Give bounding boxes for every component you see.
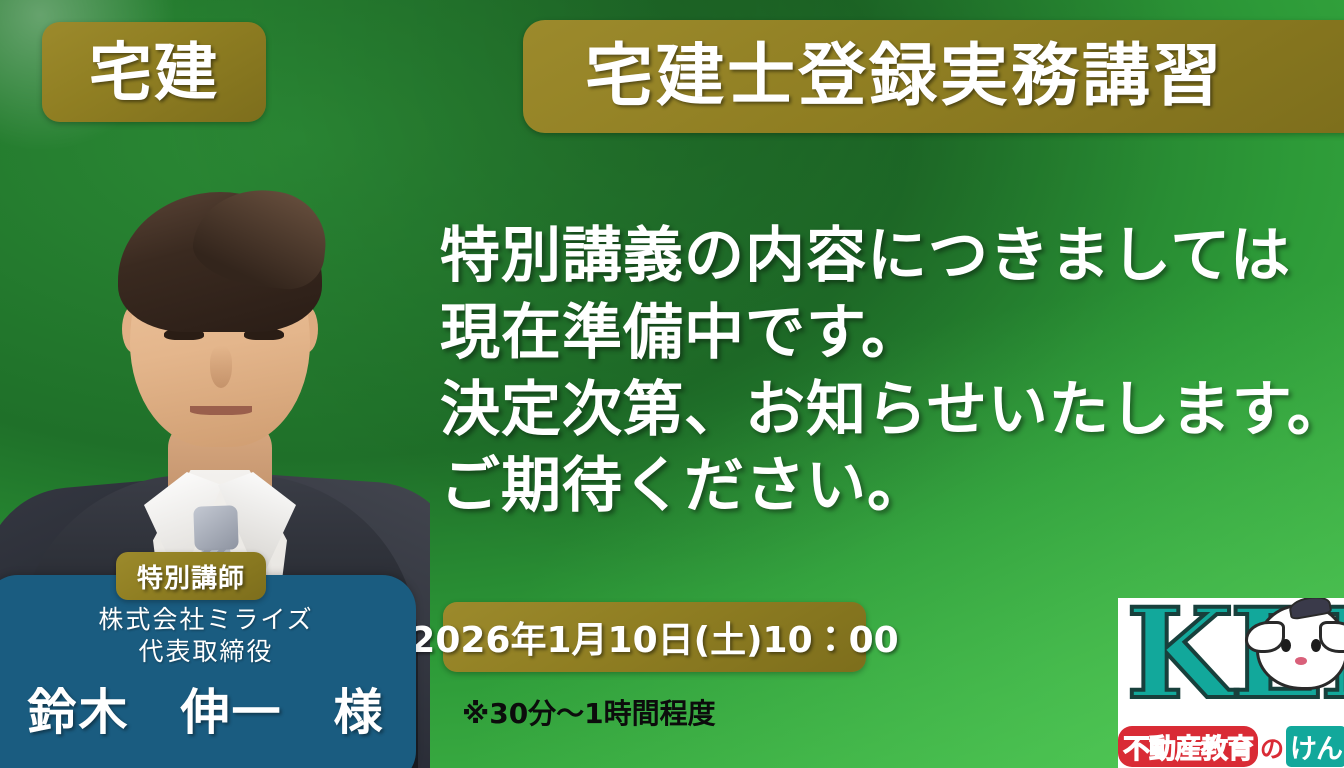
speaker-company: 株式会社ミライズ xyxy=(0,604,412,636)
dog-nose-icon xyxy=(1295,657,1307,665)
date-badge: 2026年1月10日(土)10：00 xyxy=(443,602,866,672)
title-banner: 宅建士登録実務講習 xyxy=(523,20,1344,133)
mouth xyxy=(190,406,252,415)
dog-ear-right-icon xyxy=(1319,621,1344,653)
speaker-badge-label: 特別講師 xyxy=(137,558,245,595)
takken-tag: 宅建 xyxy=(42,22,266,122)
dog-mascot-icon xyxy=(1256,604,1344,690)
nose xyxy=(210,346,232,388)
presentation-slide: 宅建 宅建士登録実務講習 特別講義の内容につきましては 現在準備中です。 決定次… xyxy=(0,0,1344,768)
duration-note: ※30分〜1時間程度 xyxy=(462,692,716,732)
speaker-role: 代表取締役 xyxy=(0,636,412,668)
date-badge-label: 2026年1月10日(土)10：00 xyxy=(410,611,898,663)
body-copy-line-1: 特別講義の内容につきましては xyxy=(440,218,1344,295)
dog-eye-right-icon xyxy=(1311,639,1321,652)
necktie-knot xyxy=(193,505,239,551)
dog-cap-icon xyxy=(1288,598,1333,620)
speaker-details: 株式会社ミライズ 代表取締役 鈴木 伸一 様 xyxy=(0,604,412,744)
speaker-badge: 特別講師 xyxy=(116,552,266,600)
dog-eye-left-icon xyxy=(1281,639,1291,652)
body-copy-line-3: 決定次第、お知らせいたします。 xyxy=(440,372,1344,449)
body-copy-line-2: 現在準備中です。 xyxy=(440,295,1344,372)
ken-logo: KEN 不動産教育 の けん xyxy=(1118,598,1344,768)
speaker-name: 鈴木 伸一 様 xyxy=(0,673,412,744)
logo-tagline: 不動産教育 の けん xyxy=(1118,726,1344,766)
takken-tag-label: 宅建 xyxy=(89,41,219,104)
logo-tagline-red: 不動産教育 xyxy=(1118,726,1258,767)
page-title: 宅建士登録実務講習 xyxy=(585,43,1224,111)
logo-tagline-no: の xyxy=(1258,729,1286,764)
logo-tagline-teal: けん xyxy=(1286,726,1344,767)
body-copy: 特別講義の内容につきましては 現在準備中です。 決定次第、お知らせいたします。 … xyxy=(440,218,1344,525)
dog-ear-left-icon xyxy=(1245,621,1285,653)
body-copy-line-4: ご期待ください。 xyxy=(440,448,1344,525)
